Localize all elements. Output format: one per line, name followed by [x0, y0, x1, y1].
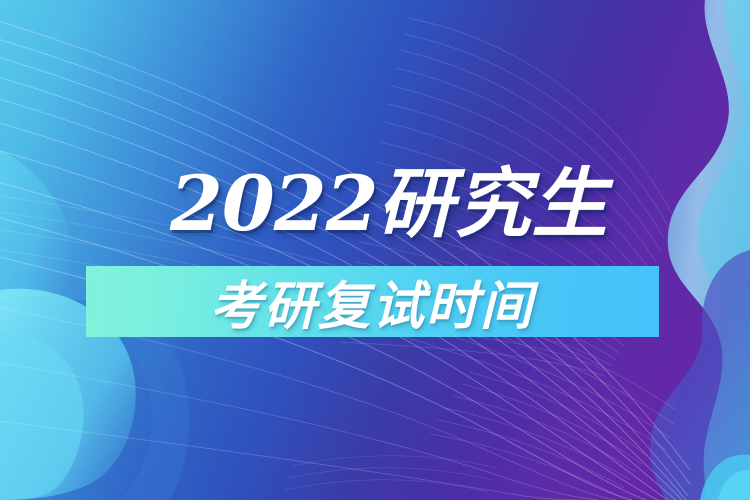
right-violet-wave-decoration: [0, 0, 750, 500]
arc-lines-decoration: [0, 0, 750, 500]
right-light-wave-decoration: [0, 0, 750, 500]
left-cyan-blob-decoration: [0, 0, 750, 500]
page-title: 2022研究生: [170, 162, 609, 247]
page-subtitle: 考研复试时间: [210, 268, 534, 335]
headline-year: 2022: [170, 159, 378, 248]
center-streaks-decoration: [0, 0, 750, 500]
fan-lines-decoration: [0, 0, 750, 500]
promo-banner: 2022研究生 考研复试时间: [0, 0, 750, 500]
headline-cjk: 研究生: [378, 159, 609, 248]
